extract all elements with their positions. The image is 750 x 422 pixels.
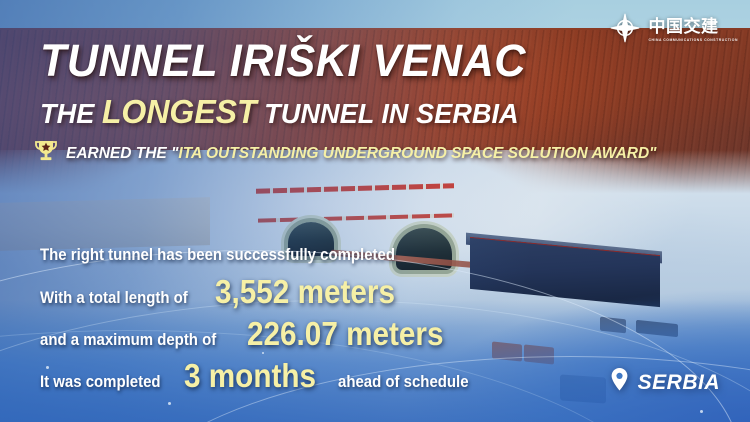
stat-row-schedule: It was completed 3 months ahead of sched…: [40, 358, 486, 394]
stat-row-depth: and a maximum depth of 226.07 meters: [40, 316, 486, 352]
trophy-icon: [34, 139, 58, 169]
statistics-block: The right tunnel has been successfully c…: [40, 246, 486, 395]
stat-value: 226.07 meters: [247, 316, 444, 352]
stat-text-before: It was completed: [40, 373, 161, 391]
infographic-poster: 中国交建 CHINA COMMUNICATIONS CONSTRUCTION T…: [0, 0, 750, 422]
stat-value: 3 months: [184, 358, 316, 394]
page-title: TUNNEL IRIŠKI VENAC: [40, 38, 526, 83]
stat-text-after: ahead of schedule: [338, 373, 469, 391]
logo-english-name: CHINA COMMUNICATIONS CONSTRUCTION: [648, 39, 738, 42]
page-subtitle: THE LONGEST TUNNEL IN SERBIA: [40, 95, 519, 128]
logo-text-block: 中国交建 CHINA COMMUNICATIONS CONSTRUCTION: [648, 19, 738, 42]
stat-row-completion: The right tunnel has been successfully c…: [40, 246, 486, 264]
award-title: ITA OUTSTANDING UNDERGROUND SPACE SOLUTI…: [178, 145, 649, 162]
stat-text: The right tunnel has been successfully c…: [40, 246, 395, 264]
location-badge: SERBIA: [610, 367, 720, 397]
stat-text: and a maximum depth of: [40, 331, 216, 349]
award-suffix: ": [649, 145, 656, 162]
company-logo[interactable]: 中国交建 CHINA COMMUNICATIONS CONSTRUCTION: [608, 11, 738, 50]
award-banner: EARNED THE "ITA OUTSTANDING UNDERGROUND …: [34, 139, 657, 169]
subtitle-highlight: LONGEST: [102, 93, 257, 130]
cccc-compass-logo-icon: [608, 11, 642, 50]
award-text: EARNED THE "ITA OUTSTANDING UNDERGROUND …: [66, 146, 657, 162]
award-prefix: EARNED THE ": [66, 145, 178, 162]
location-label: SERBIA: [638, 372, 720, 393]
subtitle-before: THE: [40, 98, 102, 129]
stat-row-length: With a total length of 3,552 meters: [40, 274, 486, 310]
subtitle-after: TUNNEL IN SERBIA: [257, 98, 519, 129]
stat-value: 3,552 meters: [215, 274, 395, 310]
stat-text: With a total length of: [40, 289, 188, 307]
location-pin-icon: [610, 367, 629, 397]
logo-chinese-name: 中国交建: [648, 19, 738, 36]
